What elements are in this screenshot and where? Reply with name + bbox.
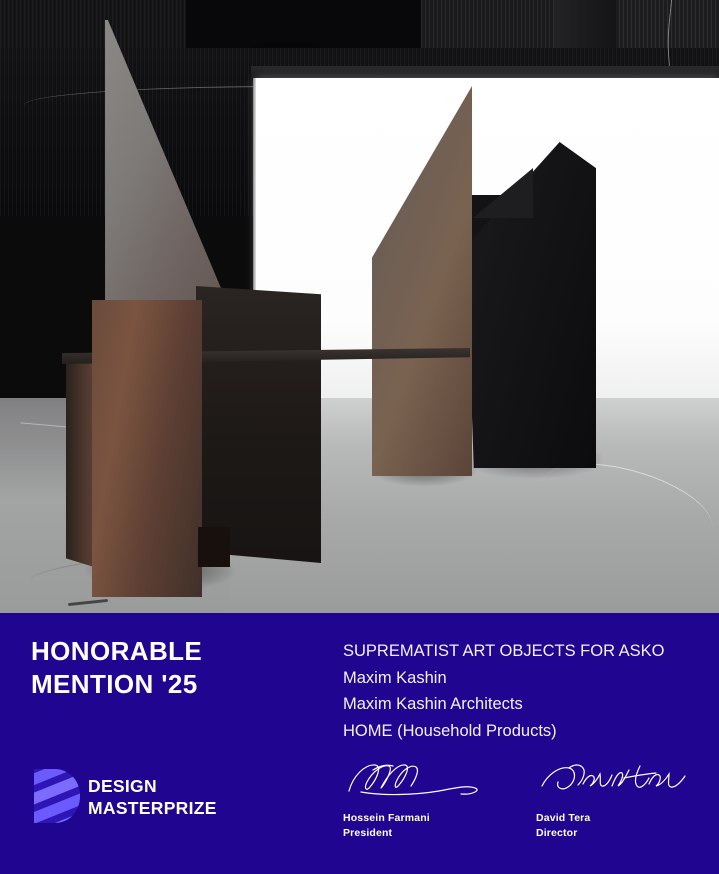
sculpture-left-back-panel [196, 286, 321, 563]
sculpture-left-base-notch [198, 527, 230, 567]
award-certificate-card: HONORABLE MENTION '25 SUPREMATIST ART OB… [0, 0, 719, 874]
logo-word-design: DESIGN [88, 775, 217, 797]
sculpture-left-side-fin [66, 352, 94, 567]
award-banner: HONORABLE MENTION '25 SUPREMATIST ART OB… [0, 613, 719, 874]
award-project-photo [0, 0, 719, 613]
signature-block-director: David Tera Director [536, 758, 711, 841]
entry-designer: Maxim Kashin [343, 665, 703, 692]
logo-word-masterprize: MASTERPRIZE [88, 797, 217, 819]
signature-david-tera-icon [536, 789, 696, 806]
signature-role-director: Director [536, 826, 711, 841]
award-title-line-1: HONORABLE [31, 635, 321, 668]
signature-hossein-farmani-icon [343, 789, 503, 806]
entry-project-title: SUPREMATIST ART OBJECTS FOR ASKO [343, 638, 703, 665]
entry-studio: Maxim Kashin Architects [343, 691, 703, 718]
design-masterprize-wordmark: DESIGN MASTERPRIZE [88, 775, 217, 820]
sculpture-left-front-panel [92, 300, 202, 597]
design-masterprize-mark-icon [30, 765, 80, 827]
signature-role-president: President [343, 826, 518, 841]
entry-details: SUPREMATIST ART OBJECTS FOR ASKO Maxim K… [343, 638, 703, 745]
award-title-line-2: MENTION '25 [31, 668, 321, 701]
entry-category: HOME (Household Products) [343, 718, 703, 745]
award-title: HONORABLE MENTION '25 [31, 635, 321, 701]
signature-name-president: Hossein Farmani [343, 811, 518, 826]
signature-name-director: David Tera [536, 811, 711, 826]
design-masterprize-logo: DESIGN MASTERPRIZE [30, 765, 260, 827]
signature-block-president: Hossein Farmani President [343, 758, 518, 841]
